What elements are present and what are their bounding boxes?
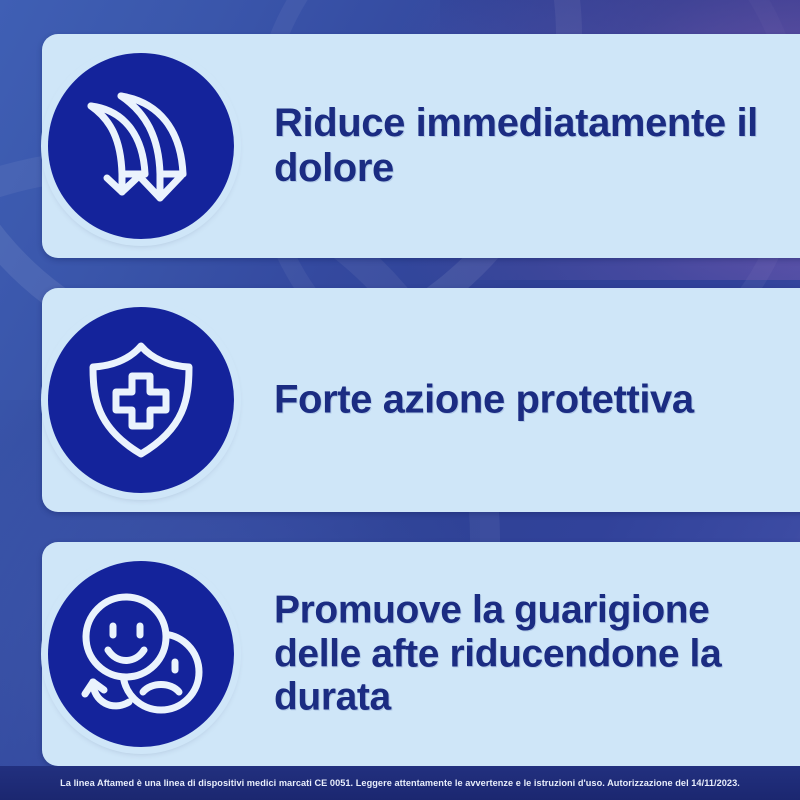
benefit-text-healing: Promuove la guarigione delle afte riduce… <box>274 588 786 719</box>
smiley-sad-faces-icon <box>77 590 205 718</box>
benefit-card-pain-relief: Riduce immediatamente il dolore <box>42 34 800 258</box>
benefit-card-healing: Promuove la guarigione delle afte riduce… <box>42 542 800 766</box>
benefit-text-protection: Forte azione protettiva <box>274 378 786 423</box>
badge-healing <box>48 561 234 747</box>
promo-banner: Riduce immediatamente il dolore Forte az… <box>0 0 800 800</box>
double-down-arrow-icon <box>77 82 205 210</box>
shield-cross-icon <box>77 336 205 464</box>
benefit-text-pain-relief: Riduce immediatamente il dolore <box>274 101 786 191</box>
footer-disclaimer-text: La linea Aftamed è una linea di disposit… <box>60 778 740 788</box>
badge-protection <box>48 307 234 493</box>
benefit-card-protection: Forte azione protettiva <box>42 288 800 512</box>
footer-disclaimer-bar: La linea Aftamed è una linea di disposit… <box>0 766 800 800</box>
badge-pain-relief <box>48 53 234 239</box>
